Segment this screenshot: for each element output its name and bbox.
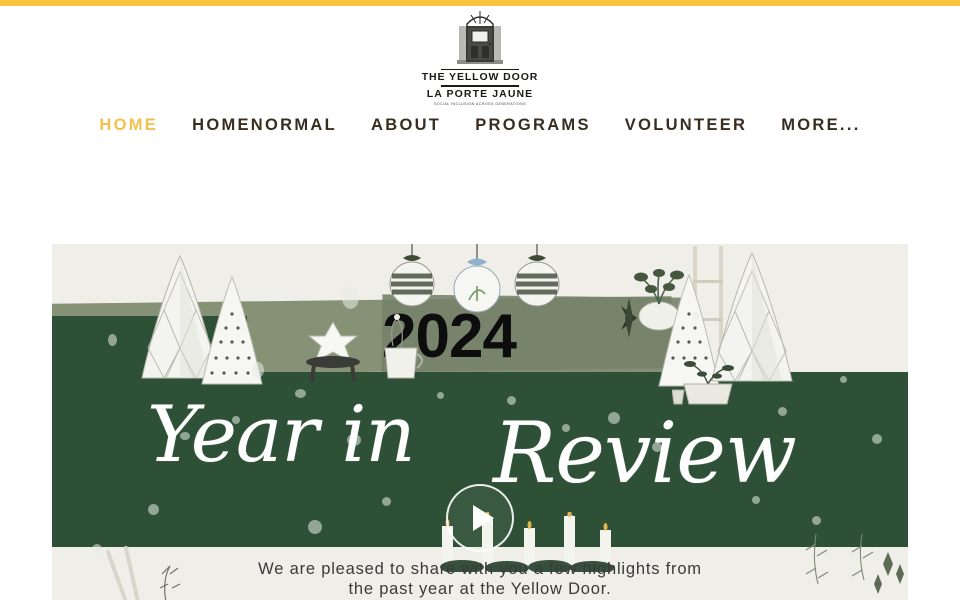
hero-caption: We are pleased to share with you a few h… [52,559,908,599]
hero-headline-line1: Year in [147,390,415,480]
header-spacer [0,148,960,244]
nav-item-about[interactable]: ABOUT [371,116,441,135]
site-header: THE YELLOW DOOR LA PORTE JAUNE SOCIAL IN… [0,6,960,102]
nav-item-home[interactable]: HOME [99,116,158,135]
logo-tagline: SOCIAL INCLUSION ACROSS GENERATIONS [434,102,526,106]
nav-item-volunteer[interactable]: VOLUNTEER [625,116,747,135]
yellow-door-icon [457,10,503,67]
play-icon [473,505,494,531]
nav-item-homenormal[interactable]: HOMENORMAL [192,116,337,135]
year-in-review-video[interactable]: 2024 [52,244,908,600]
logo-name-en: THE YELLOW DOOR [422,71,539,83]
hero-caption-line1: We are pleased to share with you a few h… [52,559,908,579]
hero-headline-line2-wrap: Review [467,414,908,495]
logo-divider-top [441,69,519,70]
hero-section: 2024 [0,244,960,600]
main-navigation: HOME HOMENORMAL ABOUT PROGRAMS VOLUNTEER… [0,102,960,148]
logo-name-fr: LA PORTE JAUNE [427,88,534,101]
play-button[interactable] [446,484,514,552]
hero-caption-line2: the past year at the Yellow Door. [52,579,908,599]
site-logo[interactable]: THE YELLOW DOOR LA PORTE JAUNE SOCIAL IN… [415,6,545,106]
nav-item-more[interactable]: MORE... [781,116,860,135]
nav-item-programs[interactable]: PROGRAMS [475,116,591,135]
logo-divider-bottom [441,85,519,86]
hero-headline-line2: Review [493,404,796,502]
